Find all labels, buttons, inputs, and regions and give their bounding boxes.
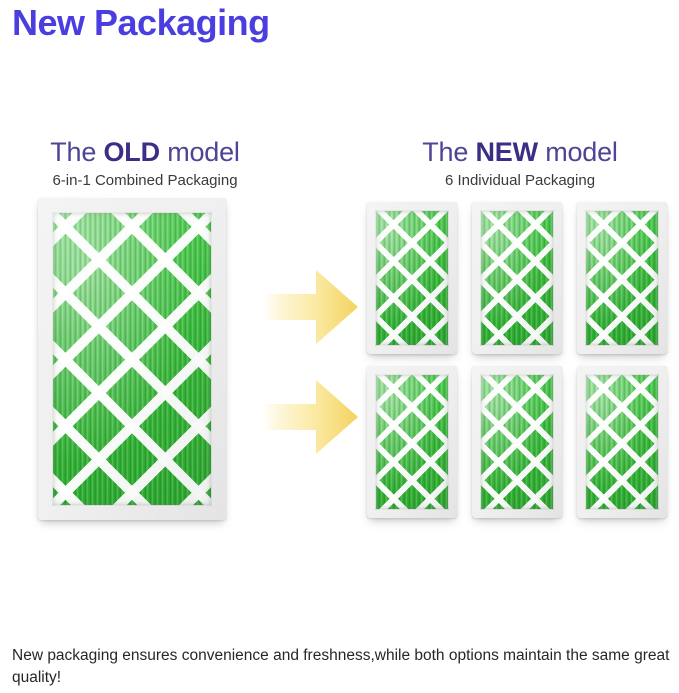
air-filter-small-image xyxy=(472,202,562,354)
filter-frame xyxy=(38,198,226,520)
new-heading-suffix: model xyxy=(538,137,618,167)
air-filter-small-image xyxy=(577,202,667,354)
filter-frame xyxy=(367,366,457,518)
old-heading-emphasis: OLD xyxy=(103,137,159,167)
air-filter-small-image xyxy=(472,366,562,518)
air-filter-small-image xyxy=(367,202,457,354)
arrow-right-icon xyxy=(262,378,358,456)
filter-frame xyxy=(367,202,457,354)
new-heading-line: The NEW model xyxy=(370,138,670,168)
air-filter-large-image xyxy=(38,198,226,520)
new-column-heading: The NEW model 6 Individual Packaging xyxy=(370,138,670,189)
old-heading-line: The OLD model xyxy=(0,138,290,168)
air-filter-small-image xyxy=(367,366,457,518)
filter-frame xyxy=(577,202,667,354)
footer-caption: New packaging ensures convenience and fr… xyxy=(12,645,672,690)
filter-frame xyxy=(472,366,562,518)
new-heading-prefix: The xyxy=(422,137,475,167)
arrow-right-icon xyxy=(262,268,358,346)
filter-frame xyxy=(577,366,667,518)
page-title: New Packaging xyxy=(12,2,270,44)
air-filter-small-image xyxy=(577,366,667,518)
old-heading-suffix: model xyxy=(160,137,240,167)
filter-frame xyxy=(472,202,562,354)
new-subtitle: 6 Individual Packaging xyxy=(370,173,670,190)
old-heading-prefix: The xyxy=(50,137,103,167)
old-subtitle: 6-in-1 Combined Packaging xyxy=(0,173,290,190)
new-heading-emphasis: NEW xyxy=(475,137,537,167)
old-column-heading: The OLD model 6-in-1 Combined Packaging xyxy=(0,138,290,189)
